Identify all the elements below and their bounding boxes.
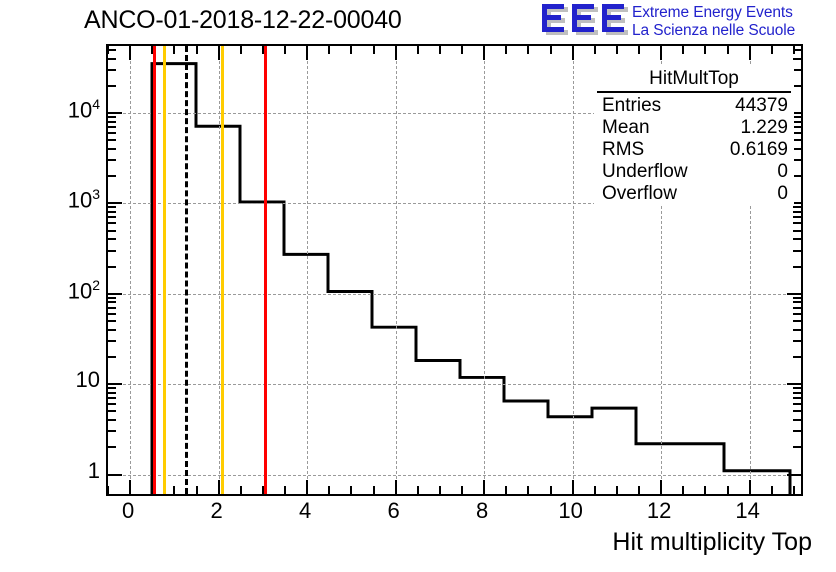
y-axis-tick xyxy=(108,410,116,412)
y-axis-tick xyxy=(793,313,801,315)
x-axis-tick xyxy=(704,486,706,494)
y-axis-tick xyxy=(108,206,116,208)
y-axis-tick xyxy=(793,222,801,224)
y-axis-tick xyxy=(108,266,116,268)
y-axis-tick xyxy=(108,320,116,322)
y-axis-tick xyxy=(108,474,122,476)
x-axis-tick xyxy=(505,486,507,494)
x-axis-tick xyxy=(129,46,131,60)
stats-row-key: Underflow xyxy=(602,161,688,183)
x-axis-tick xyxy=(284,46,286,54)
x-axis-tick-label: 6 xyxy=(388,498,400,524)
y-axis-tick xyxy=(108,307,116,309)
y-axis-tick xyxy=(108,202,122,204)
y-axis-tick xyxy=(108,85,116,87)
x-axis-tick xyxy=(682,46,684,54)
x-axis-title: Hit multiplicity Top xyxy=(612,528,812,557)
y-axis-tick xyxy=(108,58,116,60)
x-axis-tick xyxy=(350,486,352,494)
y-axis-tick xyxy=(793,126,801,128)
x-axis-tick xyxy=(550,46,552,54)
y-axis-tick xyxy=(108,132,116,134)
stats-row-key: Mean xyxy=(602,117,650,139)
marker-line-orange-low xyxy=(163,46,166,494)
x-axis-tick xyxy=(439,46,441,54)
y-axis-tick xyxy=(108,159,116,161)
y-axis-tick xyxy=(793,211,801,213)
y-axis-tick xyxy=(787,293,801,295)
y-axis-tick xyxy=(793,356,801,358)
x-axis-tick xyxy=(218,46,220,60)
y-axis-tick xyxy=(793,148,801,150)
y-axis-tick xyxy=(793,238,801,240)
y-axis-tick xyxy=(793,69,801,71)
y-axis-tick xyxy=(793,419,801,421)
stats-box: HitMultTop Entries44379Mean1.229RMS0.616… xyxy=(594,66,794,206)
stats-title: HitMultTop xyxy=(594,66,794,91)
x-axis-tick xyxy=(373,486,375,494)
x-axis-tick xyxy=(306,480,308,494)
y-axis-tick xyxy=(108,230,116,232)
x-axis-tick xyxy=(417,486,419,494)
y-axis-tick xyxy=(793,132,801,134)
y-axis-tick xyxy=(108,121,116,123)
stats-row: Mean1.229 xyxy=(594,117,794,139)
y-axis-tick xyxy=(793,266,801,268)
y-axis-tick xyxy=(793,329,801,331)
y-axis-tick xyxy=(108,392,116,394)
y-axis-tick xyxy=(108,175,116,177)
stats-row: Overflow0 xyxy=(594,183,794,205)
y-axis-tick xyxy=(793,397,801,399)
stats-row-value: 0 xyxy=(777,183,788,205)
x-axis-tick-label: 0 xyxy=(122,498,134,524)
y-axis-tick xyxy=(108,139,116,141)
x-axis-tick xyxy=(240,486,242,494)
y-axis-tick-label: 1 xyxy=(88,458,100,484)
x-axis-tick-label: 14 xyxy=(735,498,759,524)
y-axis-tick xyxy=(108,216,116,218)
y-axis-tick xyxy=(108,293,122,295)
x-axis-tick xyxy=(505,46,507,54)
eee-logo-icon xyxy=(540,3,632,41)
y-axis-tick xyxy=(108,126,116,128)
marker-line-red-low xyxy=(153,46,156,494)
x-axis-tick xyxy=(616,46,618,54)
y-axis-tick xyxy=(108,211,116,213)
y-axis-tick xyxy=(793,307,801,309)
x-axis-tick-label: 8 xyxy=(476,498,488,524)
x-axis-tick xyxy=(638,46,640,54)
y-axis-tick xyxy=(793,116,801,118)
y-axis-tick xyxy=(793,250,801,252)
y-axis-tick-label: 10 xyxy=(76,367,100,393)
x-axis-tick xyxy=(594,486,596,494)
stats-row: RMS0.6169 xyxy=(594,139,794,161)
x-axis-tick xyxy=(196,486,198,494)
y-axis-tick xyxy=(108,250,116,252)
y-axis-tick xyxy=(108,222,116,224)
x-axis-tick xyxy=(749,480,751,494)
x-axis-tick xyxy=(218,480,220,494)
marker-line-red-high xyxy=(264,46,267,494)
x-axis-tick xyxy=(594,46,596,54)
y-axis-tick xyxy=(108,329,116,331)
y-axis-tick xyxy=(793,392,801,394)
x-axis-tick xyxy=(173,486,175,494)
y-axis-tick-label: 102 xyxy=(68,277,100,304)
y-axis-labels: 110102103104 xyxy=(40,44,100,496)
y-axis-tick xyxy=(108,112,122,114)
eee-logo-text: Extreme Energy Events La Scienza nelle S… xyxy=(632,4,795,40)
y-axis-tick xyxy=(793,121,801,123)
stats-row-value: 44379 xyxy=(735,95,788,117)
x-axis-labels: 02468101214 xyxy=(106,498,803,532)
root-canvas: ANCO-01-2018-12-22-00040 xyxy=(0,0,836,572)
x-axis-tick xyxy=(793,486,795,494)
y-axis-tick xyxy=(108,69,116,71)
y-axis-tick-label: 103 xyxy=(68,186,100,213)
x-axis-tick xyxy=(727,486,729,494)
y-axis-tick xyxy=(793,410,801,412)
y-axis-tick xyxy=(793,297,801,299)
x-axis-tick xyxy=(527,46,529,54)
x-axis-tick xyxy=(483,46,485,60)
y-axis-tick xyxy=(793,175,801,177)
y-axis-tick xyxy=(793,446,801,448)
stats-row-value: 1.229 xyxy=(740,117,788,139)
marker-line-orange-high xyxy=(221,46,224,494)
x-axis-tick-label: 12 xyxy=(647,498,671,524)
x-axis-tick xyxy=(328,486,330,494)
y-axis-tick xyxy=(793,230,801,232)
y-axis-tick-label: 104 xyxy=(68,96,100,123)
y-axis-tick xyxy=(108,297,116,299)
x-axis-tick xyxy=(749,46,751,60)
y-axis-tick xyxy=(108,49,116,51)
y-axis-tick xyxy=(108,340,116,342)
x-axis-tick xyxy=(107,486,109,494)
eee-logo-block: Extreme Energy Events La Scienza nelle S… xyxy=(540,2,836,44)
marker-line-mean-dashed xyxy=(185,46,188,494)
y-axis-tick xyxy=(108,383,122,385)
y-axis-tick xyxy=(793,430,801,432)
x-axis-tick xyxy=(173,46,175,54)
y-axis-tick xyxy=(108,116,116,118)
x-axis-tick xyxy=(306,46,308,60)
logo-line-1: Extreme Energy Events xyxy=(632,4,795,22)
stats-row-key: RMS xyxy=(602,139,644,161)
y-axis-tick xyxy=(793,139,801,141)
y-axis-tick xyxy=(793,340,801,342)
x-axis-tick xyxy=(727,46,729,54)
x-axis-tick xyxy=(572,480,574,494)
logo-line-2: La Scienza nelle Scuole xyxy=(632,22,795,40)
x-axis-tick xyxy=(660,46,662,60)
page-title: ANCO-01-2018-12-22-00040 xyxy=(84,6,402,35)
x-axis-tick xyxy=(417,46,419,54)
y-axis-tick xyxy=(793,159,801,161)
y-axis-tick xyxy=(787,383,801,385)
y-axis-tick xyxy=(793,403,801,405)
y-axis-tick xyxy=(793,206,801,208)
x-axis-tick xyxy=(461,46,463,54)
y-axis-tick xyxy=(108,446,116,448)
x-axis-tick xyxy=(350,46,352,54)
y-axis-tick xyxy=(108,403,116,405)
stats-row: Entries44379 xyxy=(594,95,794,117)
x-axis-tick xyxy=(483,480,485,494)
stats-row-value: 0 xyxy=(777,161,788,183)
x-axis-tick xyxy=(771,486,773,494)
x-axis-tick xyxy=(638,486,640,494)
x-axis-tick xyxy=(395,46,397,60)
stats-row-key: Entries xyxy=(602,95,661,117)
x-axis-tick xyxy=(129,480,131,494)
x-axis-tick xyxy=(107,46,109,54)
x-axis-tick xyxy=(682,486,684,494)
y-axis-tick xyxy=(108,356,116,358)
x-axis-tick xyxy=(616,486,618,494)
x-axis-tick xyxy=(660,480,662,494)
x-axis-tick xyxy=(550,486,552,494)
x-axis-tick xyxy=(240,46,242,54)
x-axis-tick xyxy=(572,46,574,60)
y-axis-tick xyxy=(108,301,116,303)
y-axis-tick xyxy=(108,313,116,315)
x-axis-tick xyxy=(771,46,773,54)
y-axis-tick xyxy=(787,474,801,476)
y-axis-tick xyxy=(793,58,801,60)
y-axis-tick xyxy=(108,397,116,399)
y-axis-tick xyxy=(793,301,801,303)
x-axis-tick xyxy=(328,46,330,54)
x-axis-tick xyxy=(284,486,286,494)
y-axis-tick xyxy=(108,387,116,389)
x-axis-tick xyxy=(439,486,441,494)
stats-rows: Entries44379Mean1.229RMS0.6169Underflow0… xyxy=(594,95,794,205)
x-axis-tick-label: 2 xyxy=(211,498,223,524)
stats-row-value: 0.6169 xyxy=(730,139,788,161)
y-axis-tick xyxy=(108,419,116,421)
x-axis-tick xyxy=(196,46,198,54)
y-axis-tick xyxy=(793,85,801,87)
x-axis-tick xyxy=(373,46,375,54)
y-axis-tick xyxy=(108,430,116,432)
y-axis-tick xyxy=(108,148,116,150)
x-axis-tick xyxy=(793,46,795,54)
stats-row-key: Overflow xyxy=(602,183,677,205)
x-axis-tick-label: 10 xyxy=(558,498,582,524)
y-axis-tick xyxy=(793,387,801,389)
x-axis-tick xyxy=(704,46,706,54)
y-axis-tick xyxy=(793,216,801,218)
stats-row: Underflow0 xyxy=(594,161,794,183)
y-axis-tick xyxy=(108,238,116,240)
stats-divider xyxy=(597,91,791,93)
y-axis-tick xyxy=(793,320,801,322)
x-axis-tick xyxy=(527,486,529,494)
x-axis-tick xyxy=(395,480,397,494)
x-axis-tick xyxy=(461,486,463,494)
x-axis-tick-label: 4 xyxy=(299,498,311,524)
